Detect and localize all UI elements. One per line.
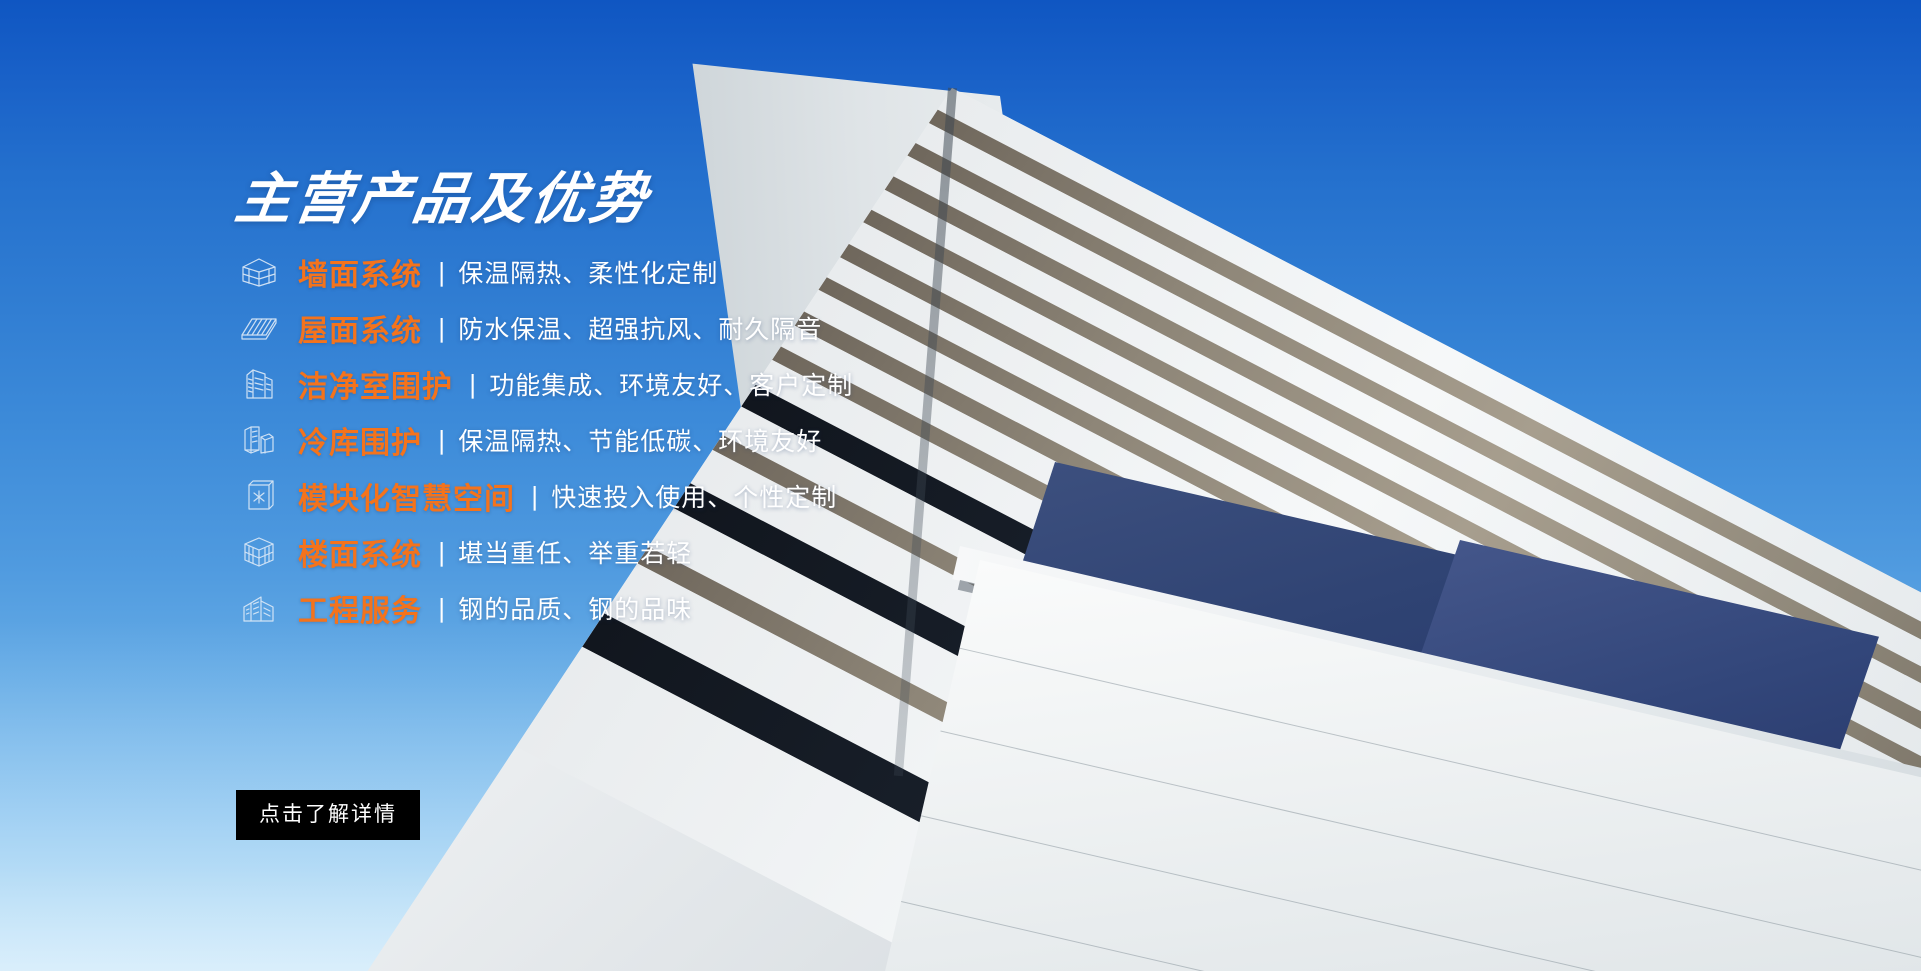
product-separator: | xyxy=(439,539,444,565)
engineering-service-icon xyxy=(234,587,284,629)
wall-system-icon xyxy=(234,251,284,293)
product-name: 墙面系统 xyxy=(298,250,422,294)
product-name: 屋面系统 xyxy=(298,306,422,350)
product-description: 功能集成、环境友好、客户定制 xyxy=(489,366,853,402)
banner-content: 主营产品及优势 墙面系统|保温隔热、柔性化定制 屋面系统|防水保温、超强抗风、耐… xyxy=(0,0,1921,971)
floor-system-icon xyxy=(234,531,284,573)
product-separator: | xyxy=(470,371,475,397)
product-list-item[interactable]: 楼面系统|堪当重任、举重若轻 xyxy=(234,525,1054,579)
product-description: 保温隔热、柔性化定制 xyxy=(458,254,718,290)
product-description: 防水保温、超强抗风、耐久隔音 xyxy=(458,310,822,346)
learn-more-button[interactable]: 点击了解详情 xyxy=(236,790,420,840)
product-list-item[interactable]: 墙面系统|保温隔热、柔性化定制 xyxy=(234,245,1054,299)
roof-system-icon xyxy=(234,307,284,349)
product-description: 保温隔热、节能低碳、环境友好 xyxy=(458,422,822,458)
product-list-item[interactable]: 模块化智慧空间|快速投入使用、个性定制 xyxy=(234,469,1054,523)
cleanroom-icon xyxy=(234,363,284,405)
product-list-item[interactable]: 屋面系统|防水保温、超强抗风、耐久隔音 xyxy=(234,301,1054,355)
product-description: 堪当重任、举重若轻 xyxy=(458,534,692,570)
product-separator: | xyxy=(439,595,444,621)
product-description: 钢的品质、钢的品味 xyxy=(458,590,692,626)
product-name: 楼面系统 xyxy=(298,530,422,574)
product-separator: | xyxy=(532,483,537,509)
cold-storage-icon xyxy=(234,419,284,461)
product-list-item[interactable]: 冷库围护|保温隔热、节能低碳、环境友好 xyxy=(234,413,1054,467)
product-list-item[interactable]: 工程服务|钢的品质、钢的品味 xyxy=(234,581,1054,635)
product-list-item[interactable]: 洁净室围护|功能集成、环境友好、客户定制 xyxy=(234,357,1054,411)
product-description: 快速投入使用、个性定制 xyxy=(551,478,837,514)
product-name: 冷库围护 xyxy=(298,418,422,462)
modular-space-icon xyxy=(234,475,284,517)
product-separator: | xyxy=(439,259,444,285)
page-title: 主营产品及优势 xyxy=(232,168,654,230)
product-separator: | xyxy=(439,315,444,341)
product-name: 模块化智慧空间 xyxy=(298,474,515,518)
product-separator: | xyxy=(439,427,444,453)
promo-banner: 主营产品及优势 墙面系统|保温隔热、柔性化定制 屋面系统|防水保温、超强抗风、耐… xyxy=(0,0,1921,971)
product-name: 洁净室围护 xyxy=(298,362,453,406)
product-name: 工程服务 xyxy=(298,586,422,630)
product-list: 墙面系统|保温隔热、柔性化定制 屋面系统|防水保温、超强抗风、耐久隔音 洁净室围… xyxy=(234,245,1054,637)
